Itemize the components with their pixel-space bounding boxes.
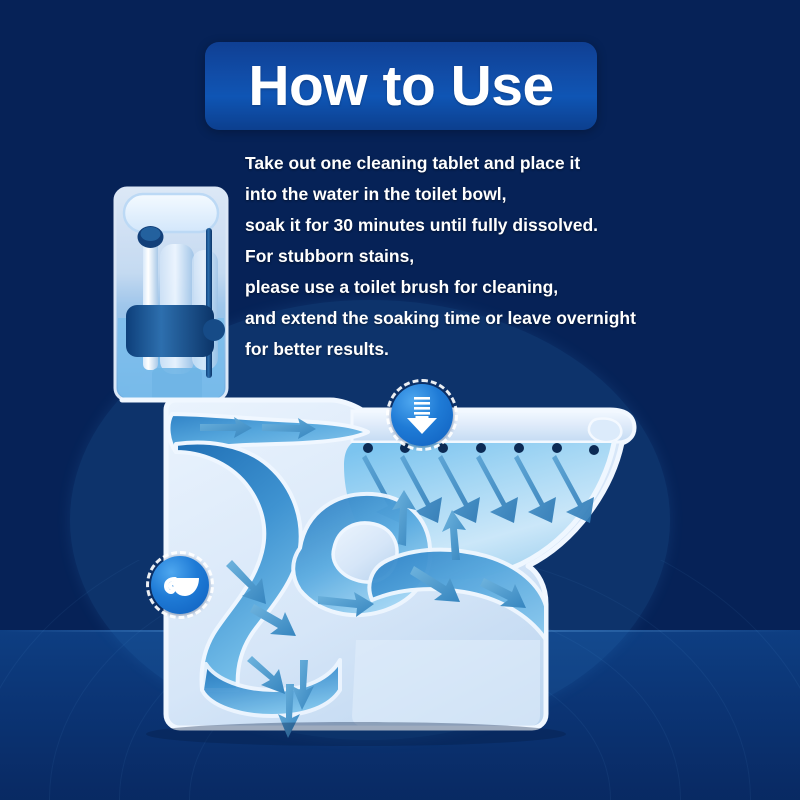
- badge-dashed-ring: [386, 379, 458, 451]
- instruction-line: please use a toilet brush for cleaning,: [245, 272, 715, 303]
- page-title: How to Use: [248, 58, 553, 115]
- fill-valve-cap-highlight: [141, 227, 161, 241]
- instruction-line: For stubborn stains,: [245, 241, 715, 272]
- instruction-line: and extend the soaking time or leave ove…: [245, 303, 715, 334]
- badge-dashed-ring: [146, 551, 214, 619]
- valve-base-block: [126, 305, 214, 357]
- valve-side-knob: [203, 319, 225, 341]
- rim-notch: [589, 418, 621, 442]
- tank-lid: [124, 194, 218, 232]
- instruction-line: Take out one cleaning tablet and place i…: [245, 148, 715, 179]
- instruction-line: into the water in the toilet bowl,: [245, 179, 715, 210]
- toilet-tank: [115, 188, 227, 402]
- instruction-line: for better results.: [245, 334, 715, 365]
- bowl-trap-badge: [146, 551, 214, 619]
- pedestal-skirt: [352, 640, 540, 726]
- base-shadow: [146, 722, 566, 746]
- rim-hole: [552, 443, 562, 453]
- rim-hole: [363, 443, 373, 453]
- down-arrow-badge: [386, 379, 458, 451]
- poster-canvas: How to Use Take out one cleaning tablet …: [0, 0, 800, 800]
- instructions-block: Take out one cleaning tablet and place i…: [245, 148, 715, 365]
- instruction-line: soak it for 30 minutes until fully disso…: [245, 210, 715, 241]
- rim-hole: [514, 443, 524, 453]
- rim-hole: [589, 445, 599, 455]
- title-banner: How to Use: [205, 42, 597, 130]
- rim-hole: [476, 443, 486, 453]
- tank-to-bowl-connector: [152, 368, 202, 402]
